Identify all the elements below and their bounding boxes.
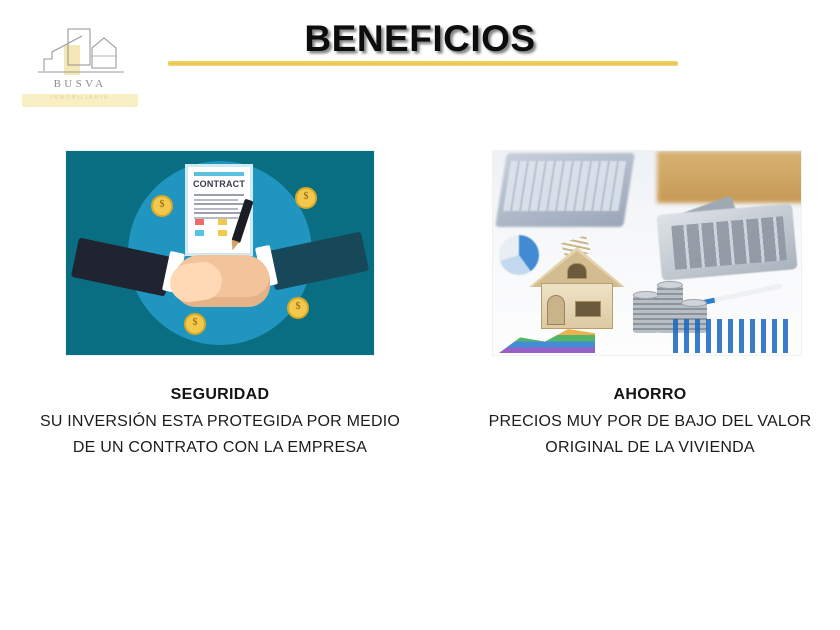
financial-chart-papers [493,309,801,355]
logo-wordmark: BUSVA [22,78,138,90]
document-field [195,219,204,225]
title-underline-rule [168,61,678,66]
benefit-card-seguridad: $ $ $ $ CONTRACT [65,150,375,356]
caption-body: SU INVERSIÓN ESTA PROTEGIDA POR MEDIO DE… [30,409,410,461]
document-field [195,230,204,236]
handshake-contract-illustration: $ $ $ $ CONTRACT [65,150,375,356]
house-model-coins-calculator-photo [492,150,802,356]
document-header-bar [194,172,244,176]
document-field [218,219,227,225]
house-window-top [567,263,587,279]
coin-icon: $ [151,195,173,217]
caption-heading: AHORRO [460,386,840,404]
logo-tagline: INMOBILIARIA [22,95,138,101]
coin-icon: $ [184,313,206,335]
benefit-card-ahorro [492,150,802,356]
document-field [218,230,227,236]
document-text-lines [194,194,244,221]
coin-icon: $ [295,187,317,209]
line-chart-shape [499,323,595,353]
handshake-hands-icon [174,255,270,307]
document-title: CONTRACT [188,179,250,189]
caption-ahorro: AHORRO PRECIOS MUY POR DE BAJO DEL VALOR… [460,386,840,461]
coin-icon: $ [287,297,309,319]
slide-canvas: BUSVA INMOBILIARIA BENEFICIOS $ $ $ $ CO… [0,0,840,630]
laptop-keyboard-shape [503,161,627,211]
pen-shape [699,283,782,305]
caption-body: PRECIOS MUY POR DE BAJO DEL VALOR ORIGIN… [460,409,840,461]
caption-heading: SEGURIDAD [30,386,410,404]
page-title: BENEFICIOS [0,18,840,60]
bar-chart-shape [673,319,793,353]
caption-seguridad: SEGURIDAD SU INVERSIÓN ESTA PROTEGIDA PO… [30,386,410,461]
